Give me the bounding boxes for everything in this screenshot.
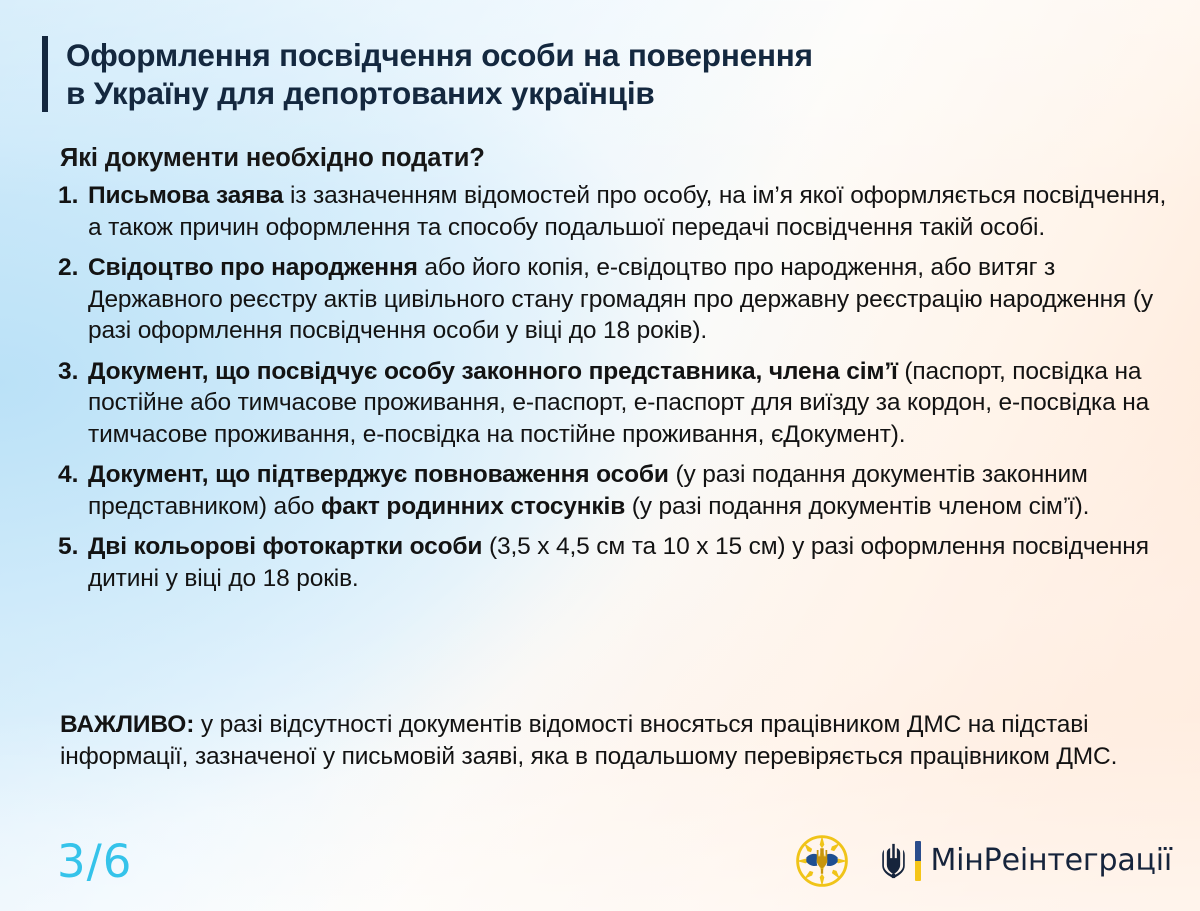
footer-logos: МінРеінтеграції	[793, 832, 1172, 890]
list-item-tail: (у разі подання документів членом сім’ї)…	[625, 493, 1089, 520]
ministry-name: МінРеінтеграції	[930, 844, 1172, 878]
list-item-bold-mid: факт родинних стосунків	[321, 493, 625, 520]
list-item-bold-lead: Документ, що підтверджує повноваження ос…	[88, 461, 669, 488]
list-item-text: Дві кольорові фотокартки особи (3,5 x 4,…	[88, 531, 1168, 594]
list-item-bold-lead: Документ, що посвідчує особу законного п…	[88, 358, 898, 385]
important-note-text: у разі відсутності документів відомості …	[60, 711, 1117, 770]
section-subtitle: Які документи необхідно подати?	[60, 143, 485, 173]
list-item-number: 4.	[58, 459, 88, 491]
page-number: 3/6	[57, 836, 132, 888]
list-item-number: 2.	[58, 252, 88, 284]
title-accent-bar	[42, 36, 48, 112]
list-item-text: Письмова заява із зазначенням відомостей…	[88, 180, 1168, 243]
important-note: ВАЖЛИВО: у разі відсутності документів в…	[60, 709, 1165, 772]
flag-divider-bar	[915, 841, 921, 881]
infographic-page: Оформлення посвідчення особи на повернен…	[0, 0, 1200, 911]
page-title-block: Оформлення посвідчення особи на повернен…	[42, 36, 813, 112]
trident-icon	[881, 843, 906, 879]
list-item-text: Документ, що посвідчує особу законного п…	[88, 356, 1168, 451]
list-item-number: 5.	[58, 531, 88, 563]
list-item-text: Свідоцтво про народження або його копія,…	[88, 252, 1168, 347]
important-note-label: ВАЖЛИВО:	[60, 711, 194, 738]
list-item-bold-lead: Письмова заява	[88, 182, 283, 209]
list-item-bold-lead: Свідоцтво про народження	[88, 254, 418, 281]
list-item: 5. Дві кольорові фотокартки особи (3,5 x…	[58, 531, 1168, 594]
list-item-bold-lead: Дві кольорові фотокартки особи	[88, 533, 482, 560]
minreintegration-logo: МінРеінтеграції	[881, 841, 1172, 881]
list-item: 3. Документ, що посвідчує особу законног…	[58, 356, 1168, 451]
list-item: 4. Документ, що підтверджує повноваження…	[58, 459, 1168, 522]
list-item-number: 1.	[58, 180, 88, 212]
list-item: 1. Письмова заява із зазначенням відомос…	[58, 180, 1168, 243]
documents-list: 1. Письмова заява із зазначенням відомос…	[58, 180, 1168, 603]
list-item: 2. Свідоцтво про народження або його коп…	[58, 252, 1168, 347]
page-title: Оформлення посвідчення особи на повернен…	[66, 36, 813, 112]
ukraine-state-emblem-icon	[793, 832, 851, 890]
list-item-text: Документ, що підтверджує повноваження ос…	[88, 459, 1168, 522]
list-item-number: 3.	[58, 356, 88, 388]
